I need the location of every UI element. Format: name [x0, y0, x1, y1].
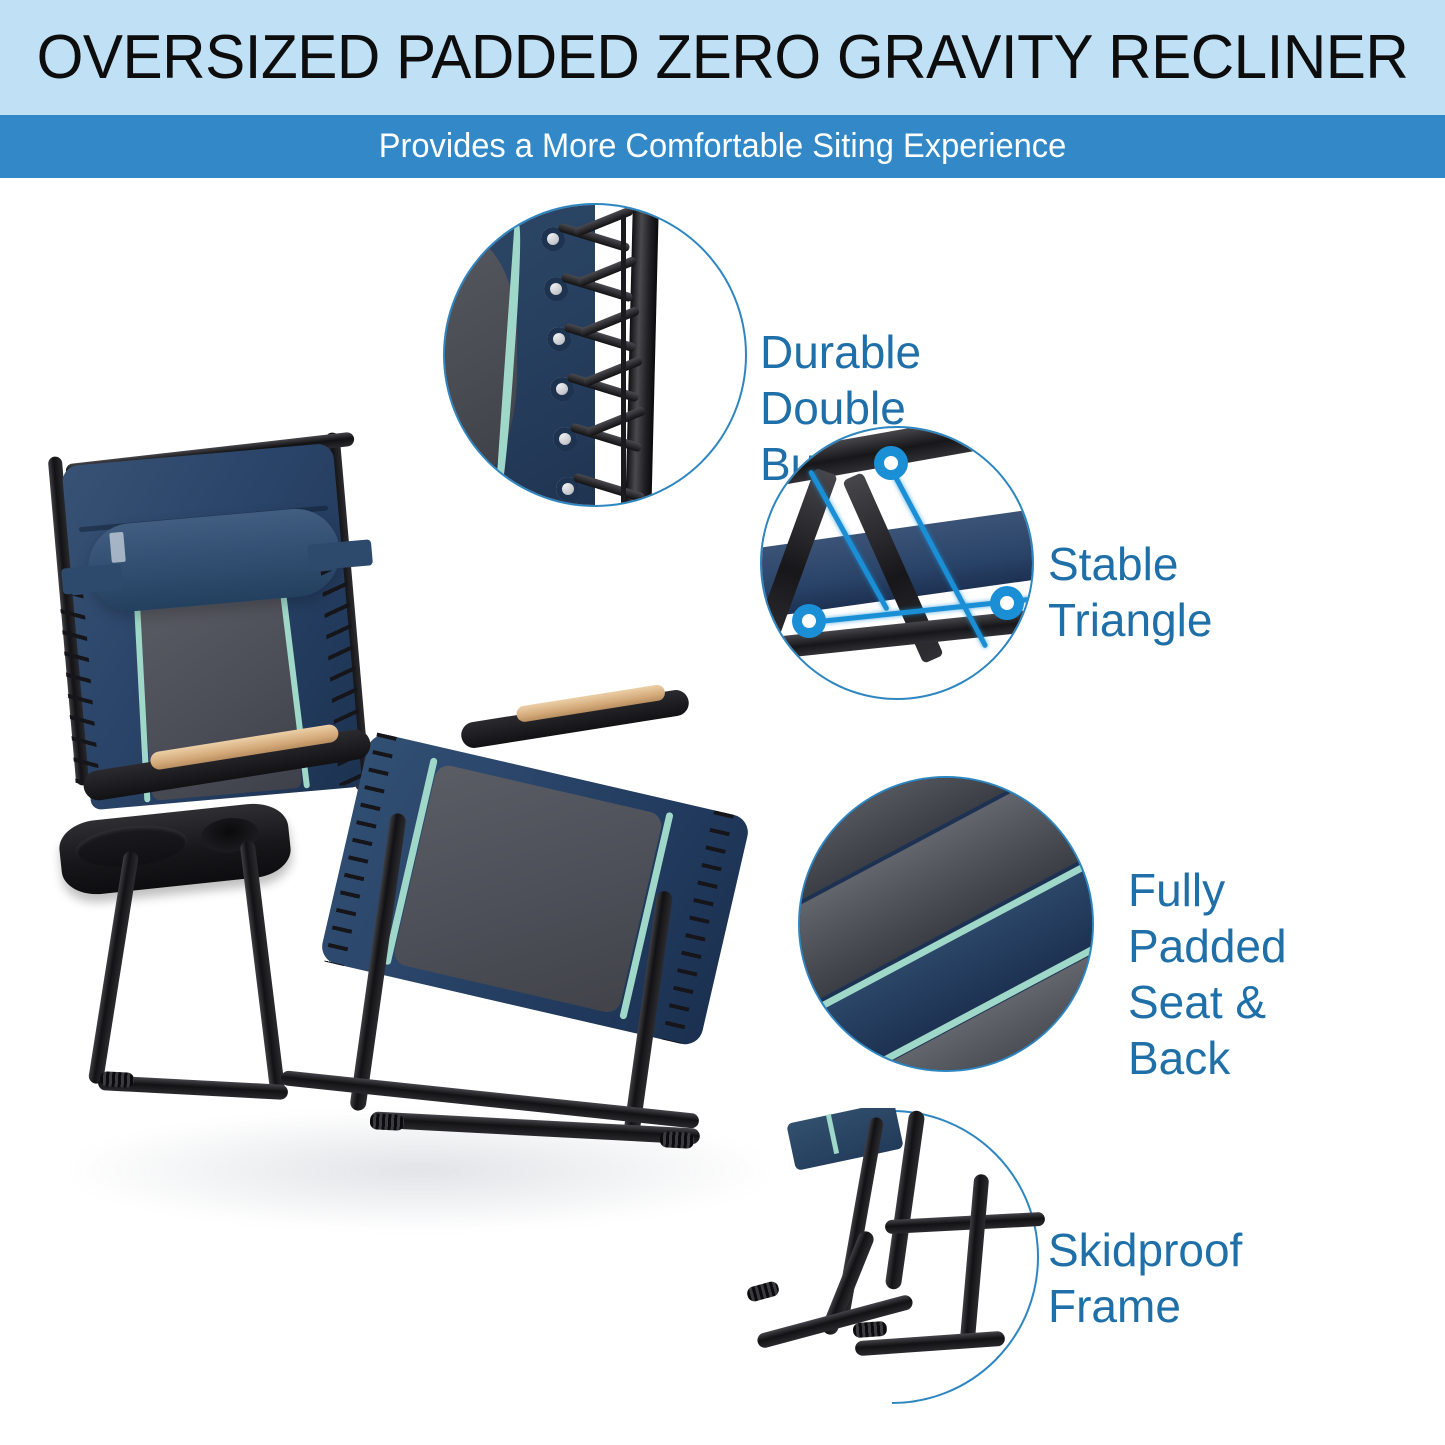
page-subtitle: Provides a More Comfortable Siting Exper… [29, 115, 1416, 178]
foot-cap-3 [660, 1131, 695, 1149]
frame-fabric-corner [786, 1108, 904, 1171]
page-title: OVERSIZED PADDED ZERO GRAVITY RECLINER [22, 0, 1424, 115]
armrest-right [459, 688, 690, 750]
pillow-strap-right [307, 539, 373, 570]
infographic-page: OVERSIZED PADDED ZERO GRAVITY RECLINER P… [0, 0, 1445, 1445]
triangle-node-right [990, 586, 1024, 620]
product-photo [40, 420, 820, 1290]
feature-image-skidproof-frame [735, 1108, 1045, 1408]
triangle-node-left [792, 604, 826, 638]
pillow-tag [109, 532, 126, 563]
pillow-strap-left [61, 563, 123, 594]
feature-label-skidproof-frame: Skidproof Frame [1048, 1222, 1242, 1334]
feature-image-durable-double-bundle [445, 205, 745, 505]
triangle-node-top [874, 446, 908, 480]
foot-cap-2 [370, 1113, 405, 1131]
feature-label-fully-padded: Fully Padded Seat & Back [1128, 862, 1287, 1086]
feature-label-stable-triangle: Stable Triangle [1048, 536, 1212, 648]
footrest-bungee-right [662, 810, 734, 1043]
armrest-right-wood-top [515, 684, 666, 723]
feature-image-stable-triangle [762, 428, 1032, 698]
feature-image-fully-padded [800, 778, 1092, 1070]
footrest-gray-panel [392, 763, 664, 1015]
leg-rear-left [240, 840, 286, 1095]
foot-cap-1 [100, 1071, 135, 1088]
